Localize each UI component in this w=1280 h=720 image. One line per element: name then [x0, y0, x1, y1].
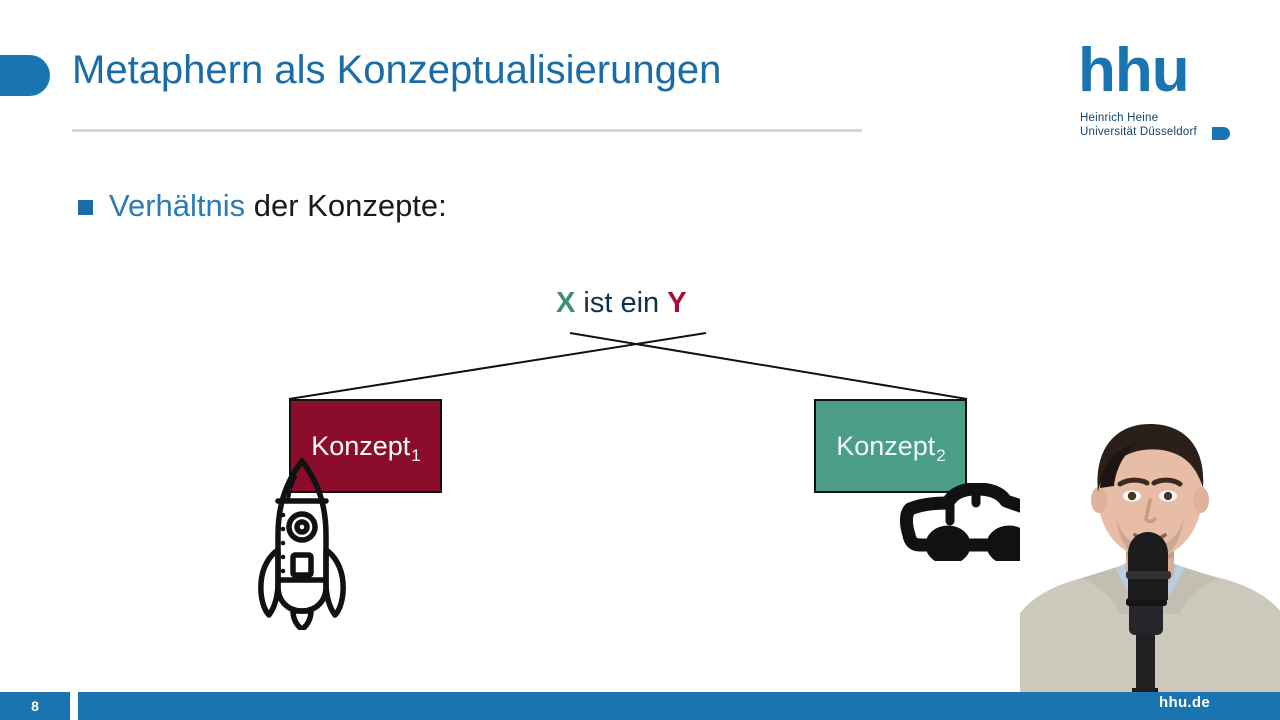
hhu-logo-subtitle: Heinrich Heine Universität Düsseldorf: [1080, 111, 1197, 139]
page-title: Metaphern als Konzeptualisierungen: [72, 48, 721, 93]
formula-y-token: Y: [667, 287, 686, 319]
edge-y-to-konzept1: [289, 333, 706, 399]
slide-canvas: Metaphern als Konzeptualisierungen hhu H…: [0, 0, 1280, 720]
hhu-logo-subtitle-line1: Heinrich Heine: [1080, 111, 1197, 125]
hhu-wordmark: hhu: [1078, 40, 1189, 102]
bullet-item: Verhältnis der Konzepte:: [78, 188, 447, 224]
concept-box-1-subscript: 1: [411, 446, 420, 465]
page-number-badge: 8: [0, 692, 70, 720]
rocket-icon: [252, 455, 352, 630]
presenter-video-overlay: [1020, 388, 1280, 693]
bullet-highlight-text: Verhältnis: [109, 188, 245, 223]
header-accent-tab: [0, 55, 50, 96]
presenter-figure: [1020, 388, 1280, 693]
bullet-square-icon: [78, 200, 93, 215]
hhu-logo: hhu Heinrich Heine Universität Düsseldor…: [1070, 48, 1230, 144]
formula-label: X ist ein Y: [556, 287, 687, 320]
hhu-logo-subtitle-line2: Universität Düsseldorf: [1080, 125, 1197, 139]
concept-box-2: Konzept2: [814, 399, 967, 493]
title-divider: [72, 129, 862, 132]
bullet-rest-text: der Konzepte:: [245, 188, 447, 223]
bullet-item-label: Verhältnis der Konzepte:: [109, 188, 447, 224]
edge-x-to-konzept2: [570, 333, 967, 399]
concept-box-2-label: Konzept2: [836, 431, 945, 462]
concept-box-2-subscript: 2: [936, 446, 945, 465]
formula-middle-token: ist ein: [575, 287, 667, 319]
footer-url-label: hhu.de: [1159, 694, 1210, 711]
formula-x-token: X: [556, 287, 575, 319]
hhu-logo-accent-tab: [1212, 127, 1230, 140]
footer-bar: [78, 692, 1280, 720]
